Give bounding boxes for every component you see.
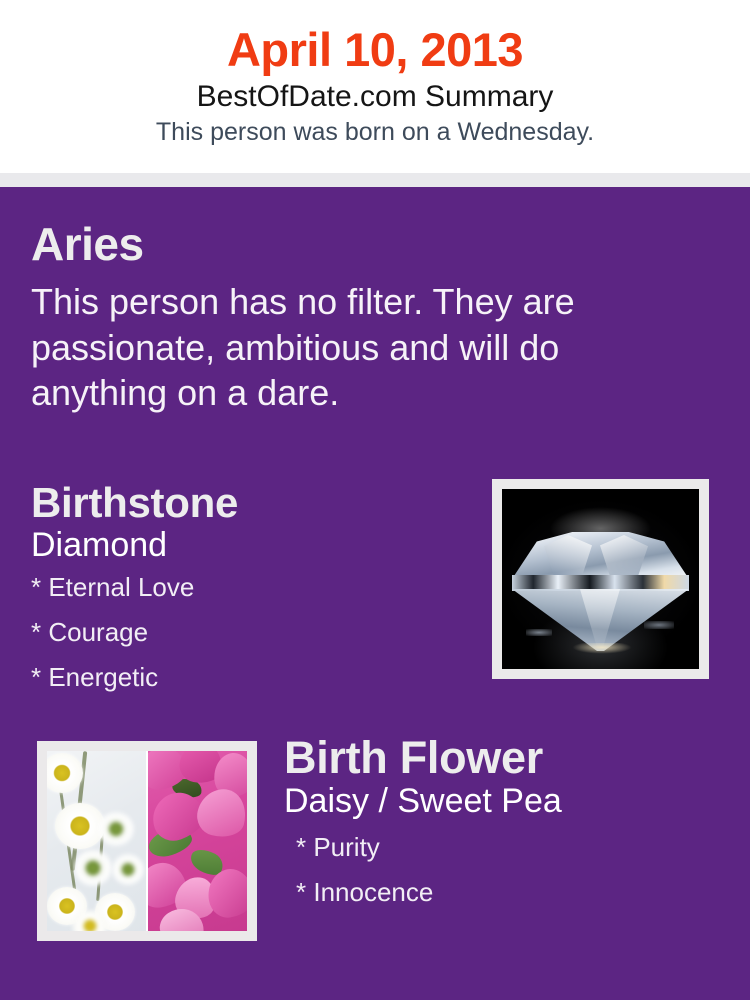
summary-panel: Aries This person has no filter. They ar… xyxy=(0,187,750,1000)
list-item: * Courage xyxy=(31,619,461,664)
birthstone-trait-list: * Eternal Love * Courage * Energetic xyxy=(31,564,461,709)
diamond-icon xyxy=(502,489,699,669)
diamond-girdle xyxy=(512,575,689,591)
born-day-label: This person was born on a Wednesday. xyxy=(0,113,750,147)
daisy-blossom xyxy=(75,851,111,885)
site-summary-label: BestOfDate.com Summary xyxy=(0,74,750,113)
diamond-glint-left xyxy=(526,629,552,636)
page-header: April 10, 2013 BestOfDate.com Summary Th… xyxy=(0,0,750,173)
birthstone-image-frame xyxy=(492,479,709,679)
list-item: * Eternal Love xyxy=(31,574,461,619)
page-title-date: April 10, 2013 xyxy=(0,0,750,74)
list-item: * Energetic xyxy=(31,664,461,709)
birthstone-heading: Birthstone xyxy=(31,482,461,524)
photo-divider xyxy=(146,751,148,931)
list-item: * Purity xyxy=(284,834,724,879)
diamond-glint-right xyxy=(644,621,674,629)
birth-flower-trait-list: * Purity * Innocence xyxy=(284,820,724,924)
daisy-blossom xyxy=(47,753,83,793)
birth-flower-image-frame xyxy=(37,741,257,941)
daisy-blossom xyxy=(113,855,143,884)
list-item: * Innocence xyxy=(284,879,724,924)
zodiac-description: This person has no filter. They are pass… xyxy=(31,267,651,416)
zodiac-section: Aries This person has no filter. They ar… xyxy=(31,221,651,416)
daisy-blossom xyxy=(99,813,133,845)
birthstone-name: Diamond xyxy=(31,524,461,564)
summary-page: April 10, 2013 BestOfDate.com Summary Th… xyxy=(0,0,750,1000)
flower-photo xyxy=(47,751,247,931)
birth-flower-name: Daisy / Sweet Pea xyxy=(284,780,724,820)
birth-flower-section: Birth Flower Daisy / Sweet Pea * Purity … xyxy=(284,735,724,924)
birthstone-section: Birthstone Diamond * Eternal Love * Cour… xyxy=(31,482,461,709)
header-divider xyxy=(0,173,750,187)
diamond-sparkle xyxy=(560,643,644,665)
zodiac-sign-title: Aries xyxy=(31,221,651,267)
sweet-pea-icon xyxy=(146,751,247,931)
daisy-blossom xyxy=(55,803,105,849)
daisy-icon xyxy=(47,751,146,931)
diamond-crown-facet xyxy=(512,531,689,579)
birth-flower-heading: Birth Flower xyxy=(284,735,724,780)
